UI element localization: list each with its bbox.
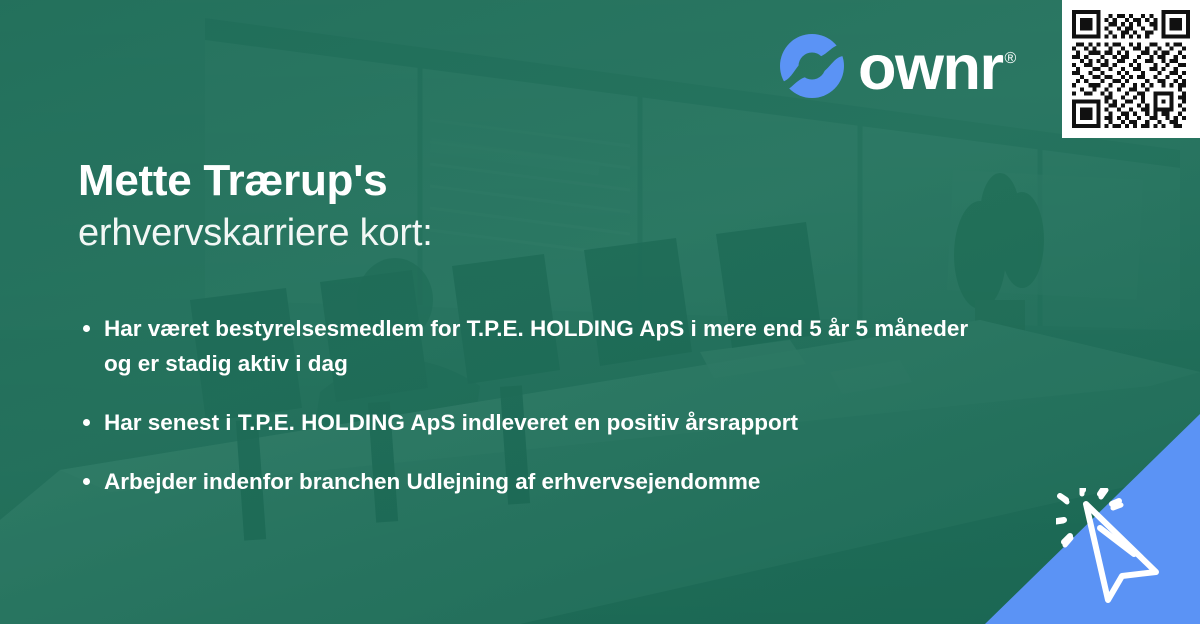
- click-cursor-icon: [1056, 488, 1186, 606]
- page-title: Mette Trærup's erhvervskarriere kort:: [78, 156, 898, 257]
- bullet-dot-icon: [83, 419, 90, 426]
- career-highlights-list: Har været bestyrelsesmedlem for T.P.E. H…: [78, 312, 978, 500]
- list-item-text: Har været bestyrelsesmedlem for T.P.E. H…: [104, 316, 968, 376]
- list-item: Har været bestyrelsesmedlem for T.P.E. H…: [78, 312, 978, 382]
- ownr-swirl-circle-icon: [778, 32, 846, 100]
- bullet-dot-icon: [83, 325, 90, 332]
- list-item: Har senest i T.P.E. HOLDING ApS indlever…: [78, 406, 978, 441]
- ownr-logo[interactable]: ownr®: [778, 30, 1013, 102]
- list-item-text: Har senest i T.P.E. HOLDING ApS indlever…: [104, 410, 798, 435]
- registered-trademark-icon: ®: [1005, 50, 1015, 67]
- list-item-text: Arbejder indenfor branchen Udlejning af …: [104, 469, 760, 494]
- ownr-wordmark-text: ownr: [858, 33, 1003, 103]
- ownr-wordmark: ownr®: [858, 37, 1013, 100]
- list-item: Arbejder indenfor branchen Udlejning af …: [78, 465, 978, 500]
- subtitle: erhvervskarriere kort:: [78, 211, 898, 257]
- person-name: Mette Trærup's: [78, 156, 898, 205]
- bullet-dot-icon: [83, 478, 90, 485]
- business-career-card: ownr® Mette Trærup's erhvervskarriere ko…: [0, 0, 1200, 624]
- qr-code-icon[interactable]: [1062, 0, 1200, 138]
